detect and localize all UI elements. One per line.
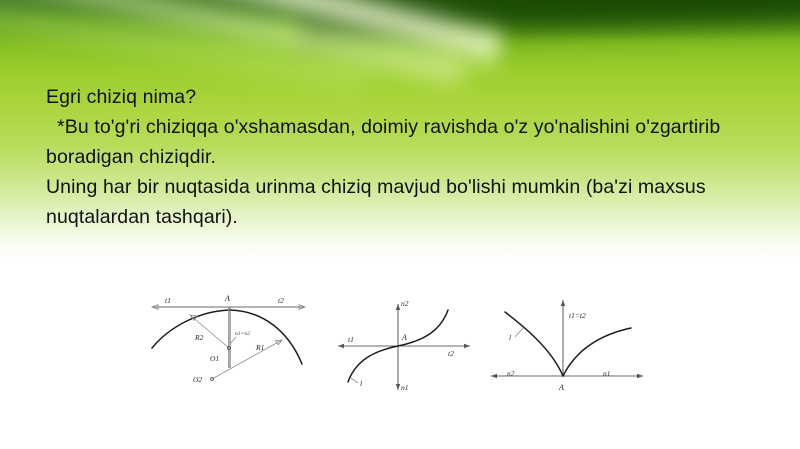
normal-axis-arrow-right: [637, 374, 643, 378]
cusp-branch-right: [563, 328, 631, 376]
tangent-axis-arrow: [561, 300, 565, 306]
curve-label-leader: [515, 328, 523, 337]
figure-tangent-common-point: t1 t2 A R2 R1 n1=n2 O1 O2: [140, 282, 330, 402]
figure-group: t1 t2 A R2 R1 n1=n2 O1 O2: [140, 282, 650, 402]
label-radius-right: R1: [255, 343, 264, 352]
label-tangent-right: t2: [278, 296, 284, 305]
slide: Egri chiziq nima? *Bu to'g'ri chiziqqa o…: [0, 0, 800, 449]
slide-paragraph-1: *Bu to'g'ri chiziqqa o'xshamasdan, doimi…: [46, 112, 746, 172]
slide-heading: Egri chiziq nima?: [46, 82, 746, 112]
label-curve: l: [360, 379, 362, 388]
radius-right-line: [212, 340, 282, 379]
label-center-2: O2: [193, 375, 202, 384]
radius-left-line: [190, 315, 229, 348]
normal-axis-arrow-left: [491, 374, 497, 378]
label-tangent-right: t2: [448, 349, 454, 358]
label-point-a: A: [558, 383, 564, 392]
label-point-a: A: [401, 333, 407, 342]
normal-axis-arrow-bottom: [396, 384, 400, 390]
label-tangent-left: t1: [348, 335, 354, 344]
slide-paragraph-2: Uning har bir nuqtasida urinma chiziq ma…: [46, 172, 746, 232]
label-normal-bottom: n1: [401, 383, 409, 392]
label-normal-top: n2: [401, 299, 409, 308]
label-normal: n1=n2: [235, 331, 250, 337]
cusp-branch-left: [505, 312, 563, 376]
normal-axis-arrow-top: [396, 304, 400, 310]
label-tangent: t1=t2: [569, 311, 586, 320]
label-tangent-left: t1: [165, 296, 171, 305]
label-normal-right: n1: [603, 369, 611, 378]
radius-right-arrow: [276, 340, 283, 345]
tangent-axis-arrow-right: [464, 344, 470, 348]
curve-right-arc: [230, 310, 302, 364]
label-point-a: A: [224, 294, 230, 303]
label-center-1: O1: [210, 354, 219, 363]
curve-label-leader: [351, 378, 358, 383]
label-normal-left: n2: [507, 369, 515, 378]
normal-label-leader: [230, 337, 236, 344]
figure-inflection-point: n2 n1 t1 t2 A l: [330, 282, 485, 402]
tangent-axis-arrow-left: [338, 344, 344, 348]
label-radius-left: R2: [194, 333, 204, 342]
slide-text-block: Egri chiziq nima? *Bu to'g'ri chiziqqa o…: [46, 82, 746, 232]
label-curve: l: [509, 333, 511, 342]
figure-cusp-point: t1=t2 n2 n1 A l: [485, 282, 650, 402]
